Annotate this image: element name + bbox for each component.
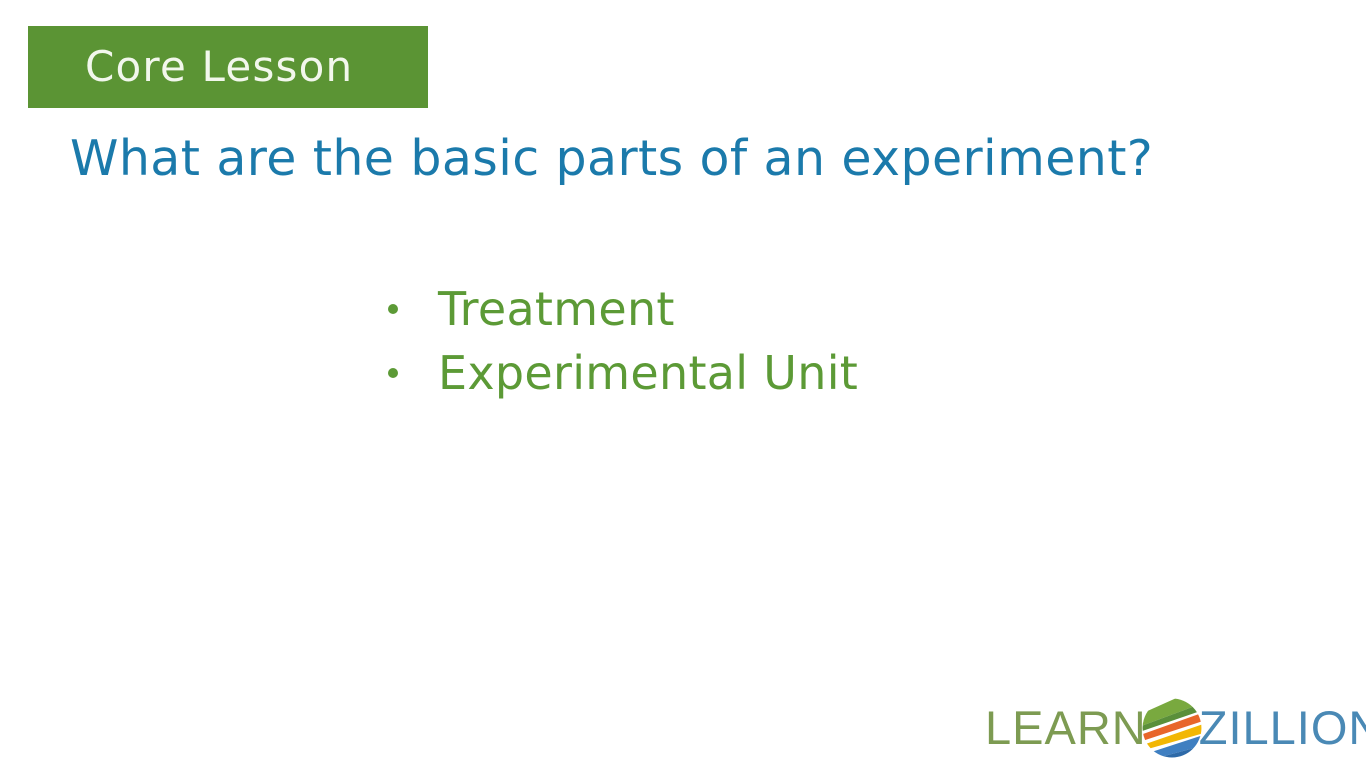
logo-word-learn: LEARN xyxy=(985,704,1147,751)
bullet-dot-icon xyxy=(388,368,398,378)
learnzillion-globe-icon xyxy=(1140,696,1204,760)
core-lesson-badge: Core Lesson xyxy=(28,26,428,108)
core-lesson-badge-label: Core Lesson xyxy=(85,37,353,97)
learnzillion-logo: LEARN xyxy=(985,696,1366,758)
list-item: Experimental Unit xyxy=(388,341,858,405)
bullet-dot-icon xyxy=(388,304,398,314)
list-item: Treatment xyxy=(388,277,858,341)
list-item-label: Experimental Unit xyxy=(438,341,858,405)
lesson-slide: Core Lesson What are the basic parts of … xyxy=(0,0,1366,768)
slide-question-heading: What are the basic parts of an experimen… xyxy=(70,124,1310,194)
logo-word-zillion: ZILLION xyxy=(1199,704,1366,751)
list-item-label: Treatment xyxy=(438,277,675,341)
concept-bullet-list: Treatment Experimental Unit xyxy=(388,277,858,405)
